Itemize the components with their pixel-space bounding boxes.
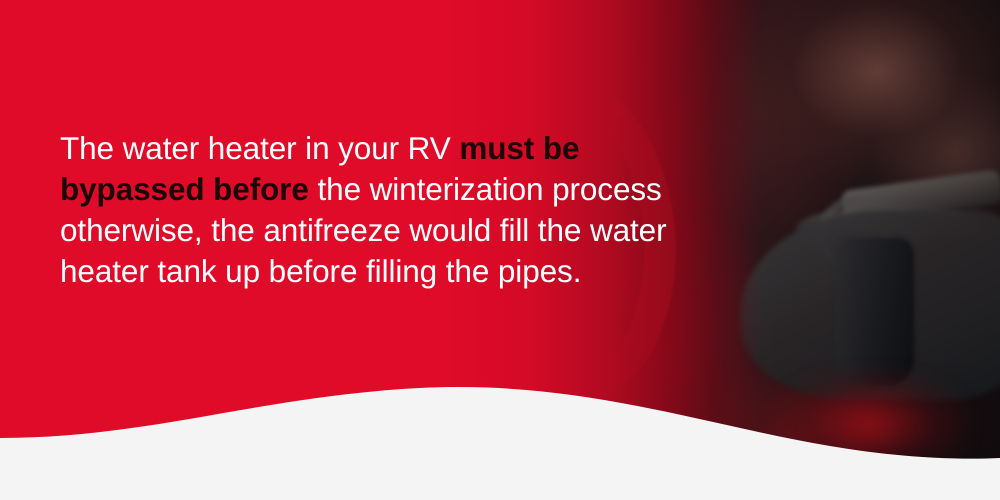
headline-emphasis-2: bypassed before	[60, 171, 309, 207]
headline-plain-2: the winterization process	[309, 171, 662, 207]
headline-plain-1: The water heater in your RV	[60, 130, 459, 166]
headline-text: The water heater in your RV must be bypa…	[60, 128, 720, 292]
headline-emphasis-1: must be	[459, 130, 579, 166]
headline-plain-4: heater tank up before filling the pipes.	[60, 253, 581, 289]
headline-plain-3: otherwise, the antifreeze would fill the…	[60, 212, 666, 248]
bottom-white-wave	[0, 380, 1000, 500]
promo-banner: The water heater in your RV must be bypa…	[0, 0, 1000, 500]
